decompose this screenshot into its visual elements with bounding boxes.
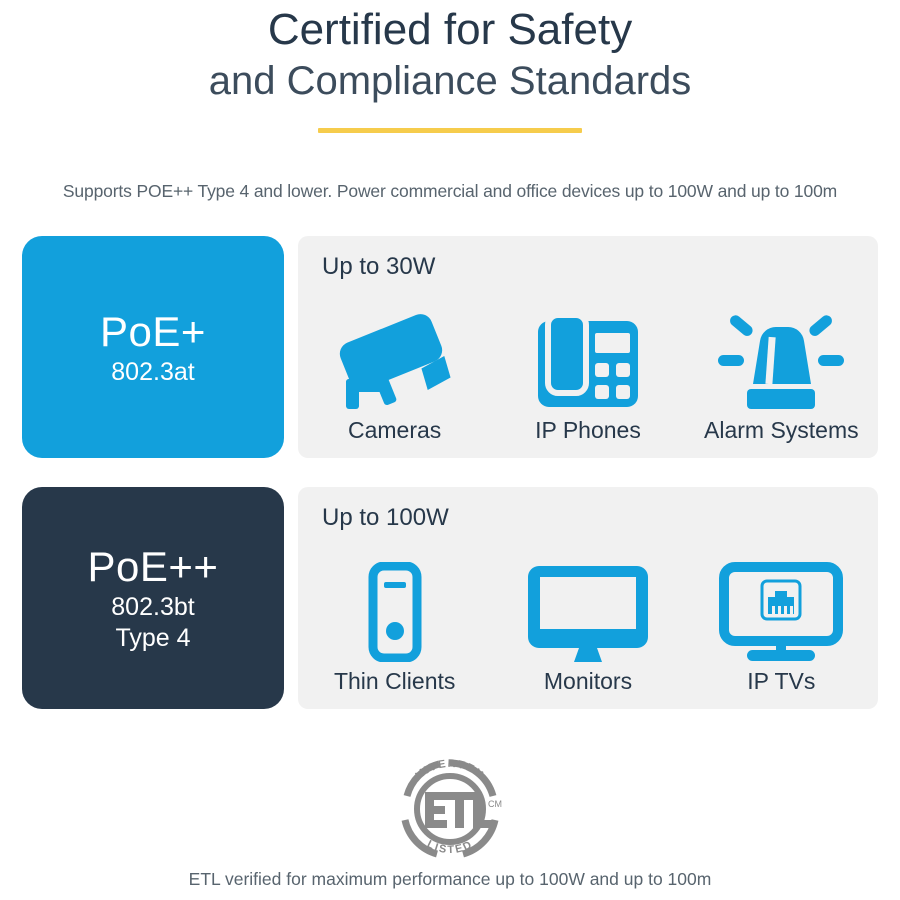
device-label-thin-clients: Thin Clients — [334, 668, 455, 709]
device-label-monitors: Monitors — [544, 668, 632, 709]
ip-phone-icon — [536, 309, 640, 413]
page-title-line-2: and Compliance Standards — [0, 56, 900, 106]
device-label-cameras: Cameras — [348, 417, 441, 458]
divider-container — [0, 120, 900, 138]
poe-plusplus-device-panel: Up to 100W Thin Clients — [298, 487, 878, 709]
device-label-ip-phones: IP Phones — [535, 417, 641, 458]
device-thin-clients: Thin Clients — [298, 560, 491, 709]
alarm-icon — [714, 309, 848, 413]
device-monitors: Monitors — [491, 560, 684, 709]
poe-plus-row: PoE+ 802.3at Up to 30W — [22, 236, 878, 458]
footer-note: ETL verified for maximum performance up … — [0, 869, 900, 890]
device-ip-phones: IP Phones — [491, 309, 684, 458]
etl-mark-text: CM — [488, 799, 502, 809]
device-label-ip-tvs: IP TVs — [747, 668, 815, 709]
device-cameras: Cameras — [298, 309, 491, 458]
poe-plus-badge-standard: 802.3at — [111, 357, 194, 388]
poe-plusplus-badge-standard: 802.3bt — [111, 592, 194, 623]
ip-tv-icon — [719, 560, 843, 664]
poe-plus-badge-title: PoE+ — [100, 307, 206, 357]
poe-plus-device-list: Cameras I — [298, 286, 878, 458]
accent-divider — [318, 128, 582, 133]
poe-plusplus-device-list: Thin Clients Monitors — [298, 537, 878, 709]
poe-plusplus-badge-card: PoE++ 802.3bt Type 4 — [22, 487, 284, 709]
monitor-icon — [526, 560, 650, 664]
thin-client-icon — [367, 560, 423, 664]
header: Certified for Safety and Compliance Stan… — [0, 0, 900, 138]
poe-plusplus-badge-type: Type 4 — [115, 623, 190, 654]
poe-plus-device-panel: Up to 30W — [298, 236, 878, 458]
etl-intertek-listed-badge: INTERTEK LISTED CM — [389, 752, 511, 864]
camera-icon — [336, 309, 454, 413]
device-label-alarm-systems: Alarm Systems — [704, 417, 859, 458]
poe-certification-infographic: Certified for Safety and Compliance Stan… — [0, 0, 900, 900]
etl-badge-container: INTERTEK LISTED CM — [0, 752, 900, 864]
device-alarm-systems: Alarm Systems — [685, 309, 878, 458]
device-ip-tvs: IP TVs — [685, 560, 878, 709]
subtitle-text: Supports POE++ Type 4 and lower. Power c… — [0, 181, 900, 202]
poe-plusplus-power-heading: Up to 100W — [322, 504, 449, 532]
poe-plus-power-heading: Up to 30W — [322, 253, 435, 281]
page-title-line-1: Certified for Safety — [0, 0, 900, 56]
poe-plusplus-row: PoE++ 802.3bt Type 4 Up to 100W Thin Cli… — [22, 487, 878, 709]
poe-plusplus-badge-title: PoE++ — [88, 542, 219, 592]
poe-plus-badge-card: PoE+ 802.3at — [22, 236, 284, 458]
